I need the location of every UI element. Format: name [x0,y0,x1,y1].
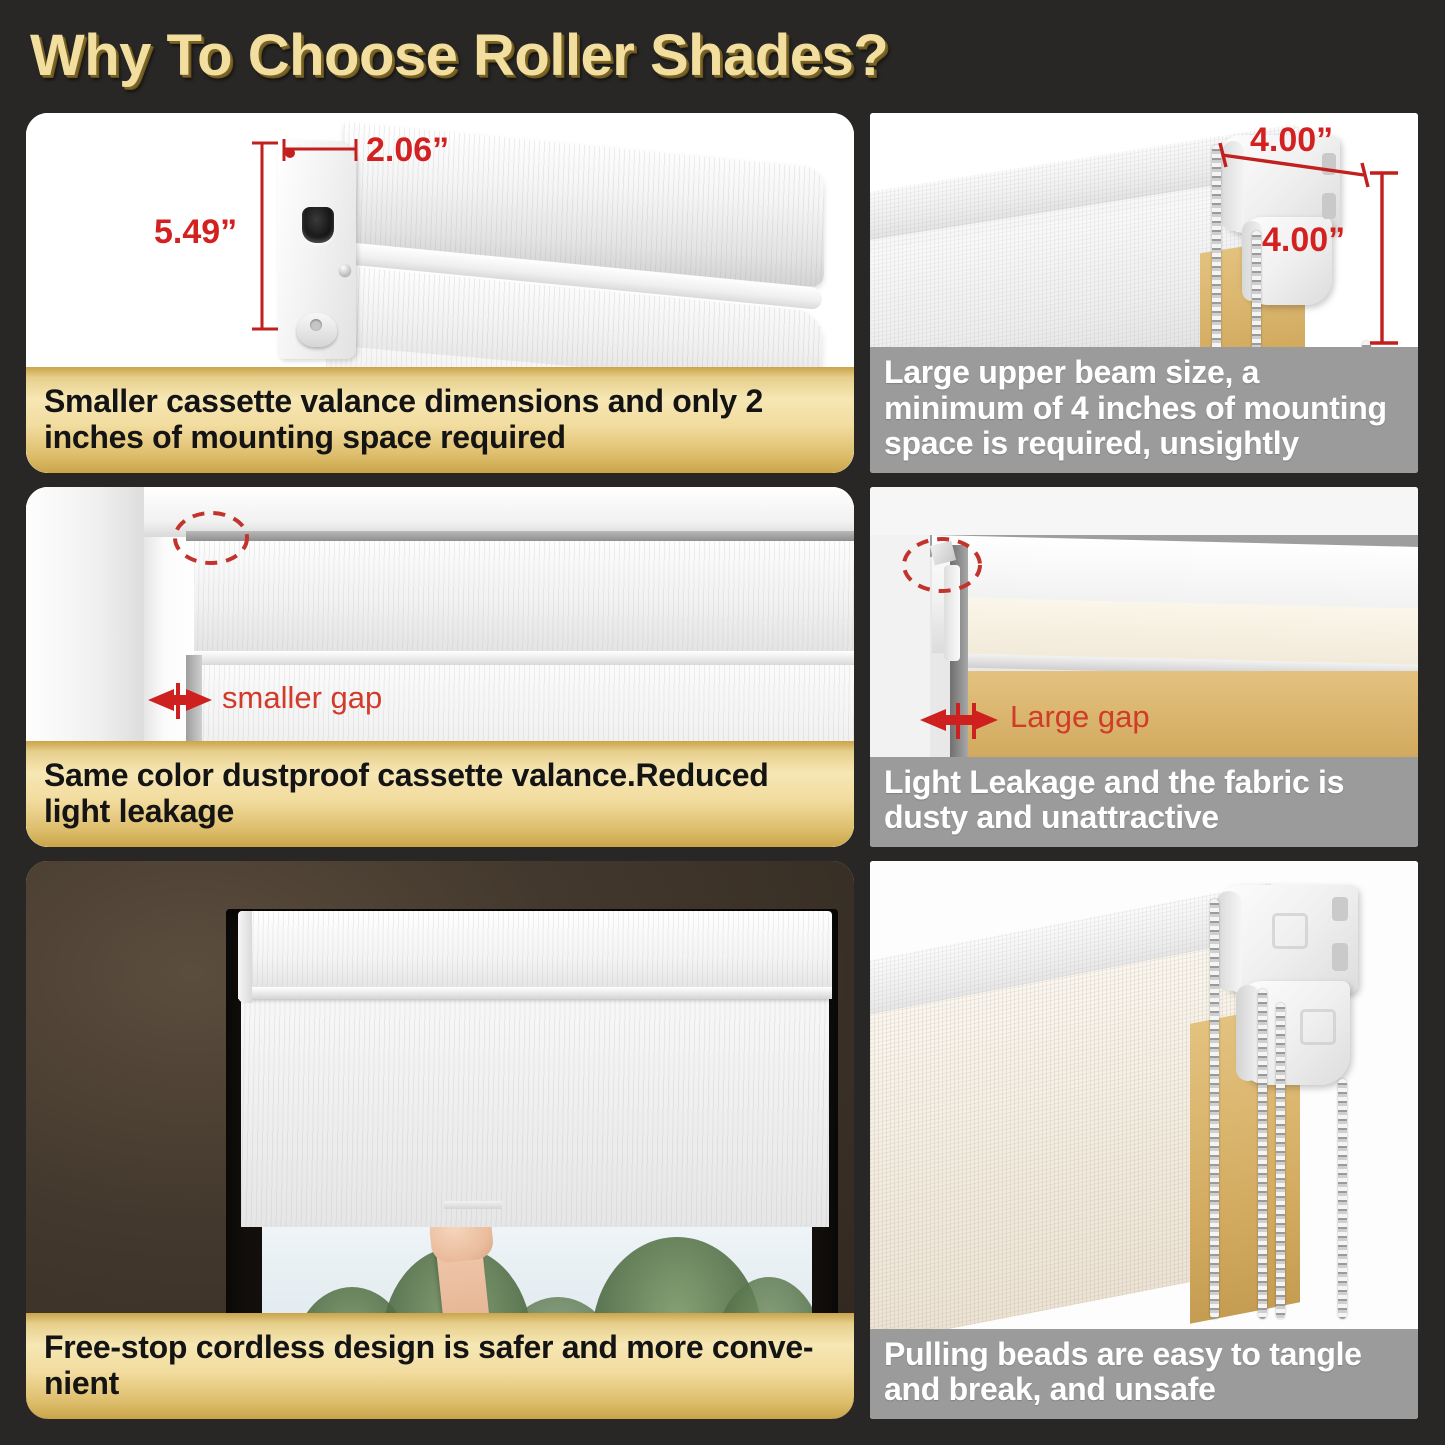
card-caption: Pulling beads are easy to tangle and bre… [870,1329,1418,1419]
bracket-knob-icon [297,313,337,347]
card-caption: Free-stop cordless design is safer and m… [26,1313,854,1419]
card-pulling-beads: Pulling beads are easy to tangle and bre… [870,861,1418,1419]
card-caption: Light Leakage and the fabric is dusty an… [870,757,1418,847]
cassette-valance [238,911,832,997]
smaller-gap-label: smaller gap [222,680,382,716]
bead-chain [1210,899,1219,1319]
card-light-leakage: Large gap Light Leakage and the fabric i… [870,487,1418,847]
card-caption: Same color dustproof cassette valance.Re… [26,741,854,847]
height-dimension-label: 4.00” [1262,221,1345,260]
card-cordless-design: Free-stop cordless design is safer and m… [26,861,854,1419]
width-dimension-label: 2.06” [366,131,449,170]
card-dustproof-valance: smaller gap Same color dustproof cassett… [26,487,854,847]
bead-chain [1338,1079,1347,1319]
bracket-screw-icon [339,264,351,276]
card-caption: Smaller cassette valance dimensions and … [26,367,854,473]
width-dimension-label: 4.00” [1250,121,1333,160]
bead-chain [1258,989,1267,1319]
comparison-grid: 2.06” 5.49” Smaller cassette valance dim… [0,0,1445,1445]
card-caption: Large upper beam size, a minimum of 4 in… [870,347,1418,473]
height-dimension-label: 5.49” [154,213,237,252]
card-large-upper-beam: 4.00” 4.00” Large upper beam size, a min… [870,113,1418,473]
card-smaller-cassette: 2.06” 5.49” Smaller cassette valance dim… [26,113,854,473]
bead-chain [1276,1003,1285,1319]
large-gap-label: Large gap [1010,699,1150,735]
bracket-hole-icon [302,207,334,243]
